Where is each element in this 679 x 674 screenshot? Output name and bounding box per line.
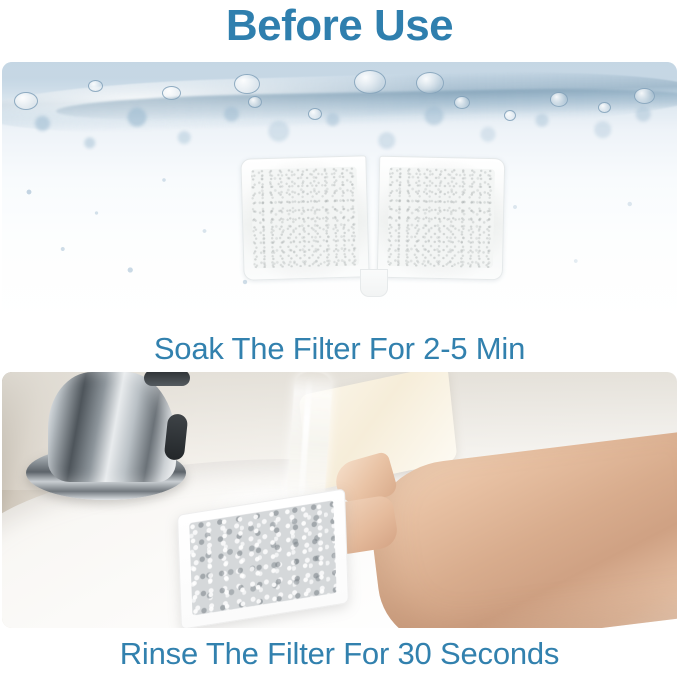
bubble-icon bbox=[14, 92, 38, 110]
bubble-icon bbox=[634, 88, 655, 104]
bubble-icon bbox=[308, 108, 322, 120]
filter-mesh-texture bbox=[251, 167, 360, 269]
caption-rinse: Rinse The Filter For 30 Seconds bbox=[0, 636, 679, 672]
step-image-rinse bbox=[2, 372, 677, 628]
bubble-icon bbox=[354, 70, 386, 94]
bubble-icon bbox=[504, 110, 516, 121]
faucet-top-trim bbox=[144, 372, 190, 386]
chrome-faucet-icon bbox=[48, 372, 176, 482]
step-image-soak bbox=[2, 62, 677, 323]
bubble-icon bbox=[88, 80, 103, 92]
bubble-icon bbox=[234, 74, 260, 94]
filter-pad-right bbox=[377, 156, 506, 281]
filter-mesh-texture bbox=[387, 167, 495, 268]
bubble-icon bbox=[162, 86, 181, 100]
bubble-icon bbox=[416, 72, 444, 94]
caption-soak: Soak The Filter For 2-5 Min bbox=[0, 331, 679, 367]
page-title: Before Use bbox=[0, 0, 679, 58]
bubble-icon bbox=[248, 96, 262, 108]
filter-tab bbox=[360, 269, 388, 297]
wet-filter-mesh-texture bbox=[189, 500, 336, 615]
bubble-icon bbox=[598, 102, 611, 113]
filter-pad-left bbox=[240, 155, 369, 280]
filter-pad-pair bbox=[242, 157, 504, 285]
bubble-icon bbox=[454, 96, 470, 109]
instruction-card: Before Use Soak The F bbox=[0, 0, 679, 674]
bubble-icon bbox=[550, 92, 568, 107]
